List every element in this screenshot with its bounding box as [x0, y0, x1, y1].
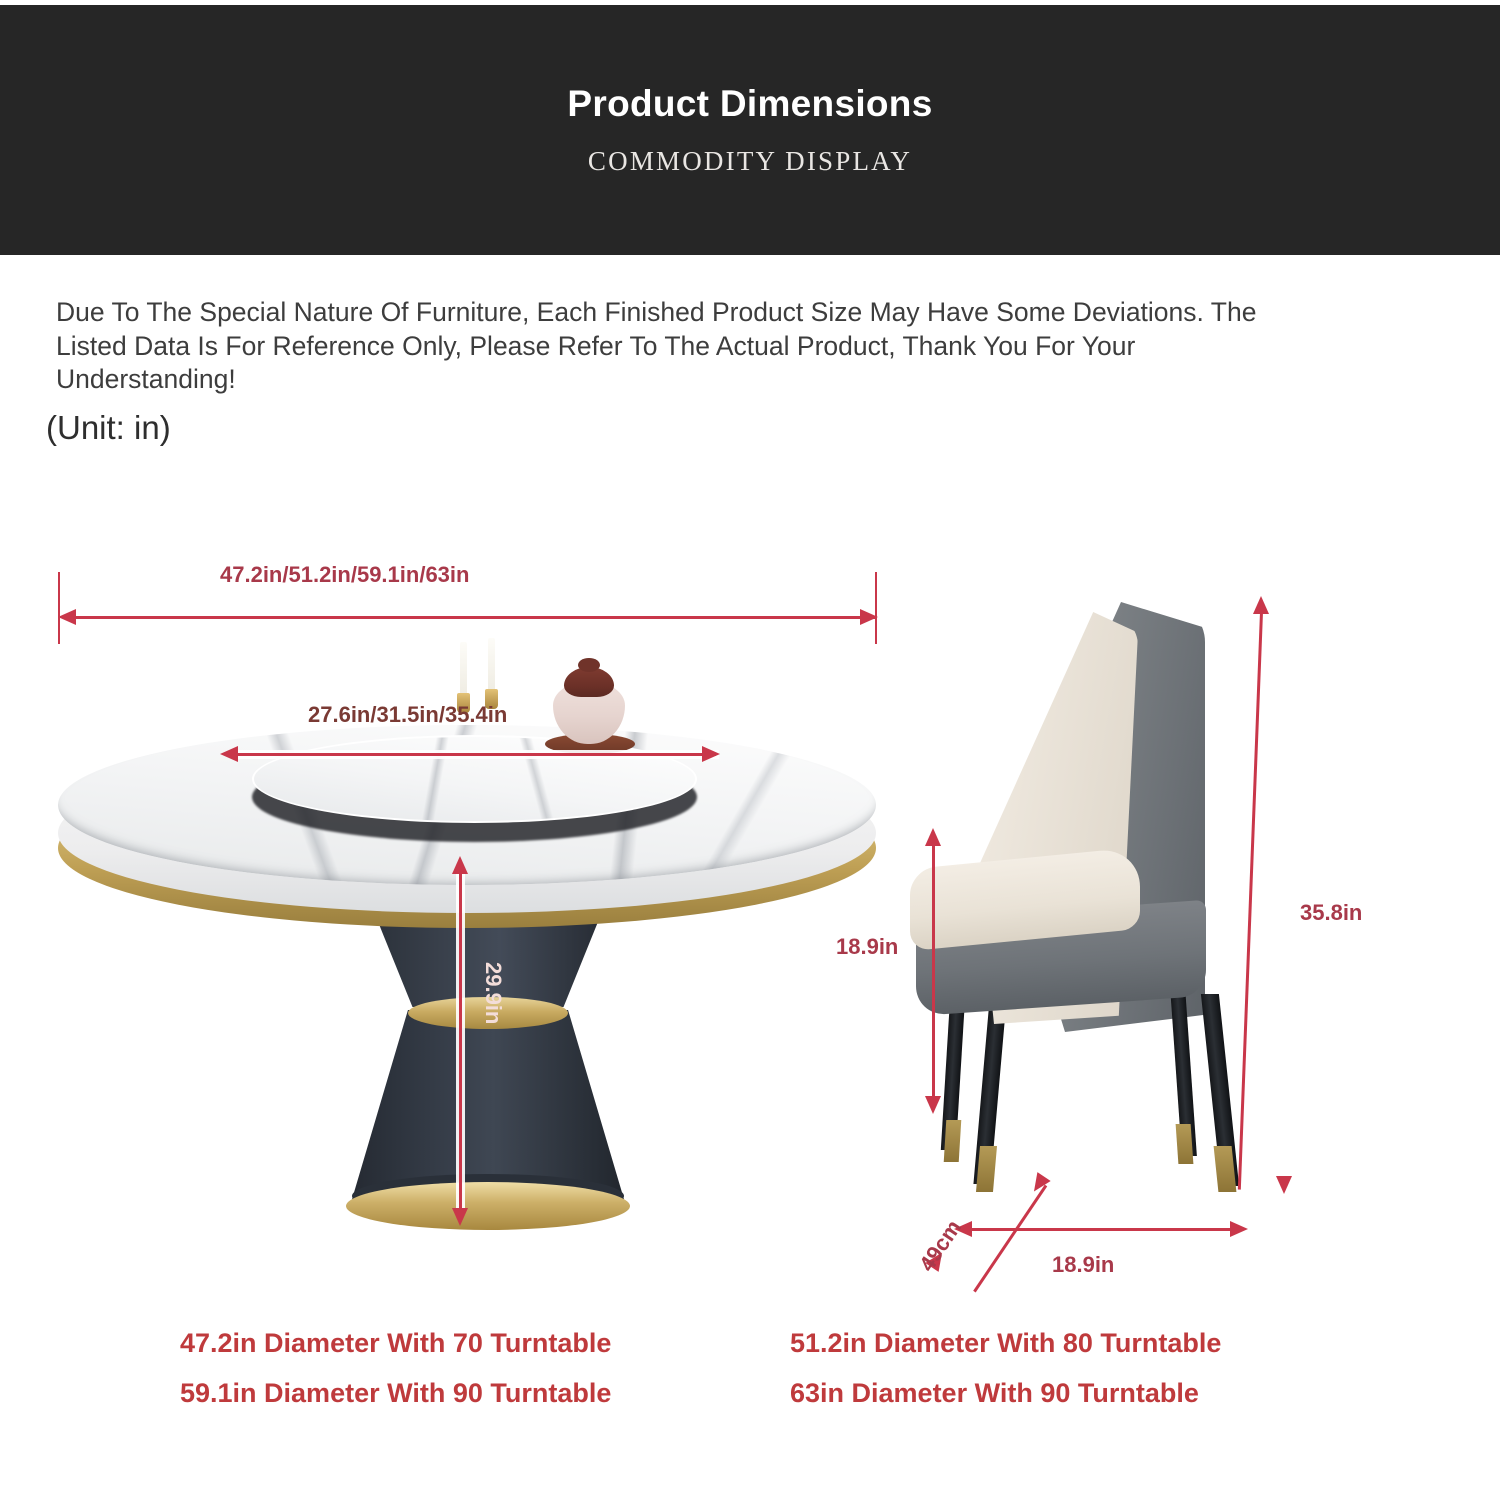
chair-width-arrow-right	[1230, 1221, 1248, 1237]
size-options-left-column: 47.2in Diameter With 70 Turntable 59.1in…	[180, 1330, 720, 1430]
table-width-arrow-right	[860, 609, 878, 625]
chair-foot-cap-front-inner	[976, 1146, 997, 1192]
turntable-width-arrow-right	[702, 746, 720, 762]
turntable-width-arrow-left	[220, 746, 238, 762]
dimension-drawing-stage: 47.2in/51.2in/59.1in/63in 27.6in/31.5in/…	[0, 470, 1500, 1290]
table-width-extension-left	[58, 572, 60, 644]
chair-total-height-dimension-line	[1238, 612, 1263, 1190]
table-height-label: 29.9in	[480, 962, 506, 1024]
pedestal-gold-base-ring	[346, 1182, 630, 1230]
page-subtitle: COMMODITY DISPLAY	[588, 148, 912, 175]
chair-total-height-arrow-bottom	[1276, 1176, 1292, 1194]
chair-seat-height-label: 18.9in	[836, 934, 898, 960]
table-width-extension-right	[875, 572, 877, 644]
table-diameter-label: 47.2in/51.2in/59.1in/63in	[220, 562, 469, 588]
table-width-arrow-left	[58, 609, 76, 625]
chair-foot-cap-front-outer	[944, 1120, 962, 1162]
chair-depth-dimension-line	[973, 1185, 1047, 1293]
chair-seat-height-dimension-line	[932, 842, 935, 1100]
size-option-item: 51.2in Diameter With 80 Turntable	[790, 1330, 1330, 1358]
candle-left	[460, 642, 467, 696]
table-height-arrow-top	[452, 856, 468, 874]
chair-depth-arrow-upper	[1027, 1172, 1050, 1196]
dining-table-illustration: 47.2in/51.2in/59.1in/63in 27.6in/31.5in/…	[40, 510, 900, 1250]
size-options-captions: 47.2in Diameter With 70 Turntable 59.1in…	[0, 1330, 1500, 1485]
table-width-dimension-line	[64, 616, 876, 619]
candle-right	[488, 638, 495, 692]
chair-depth-label: 49cm	[914, 1215, 967, 1276]
table-height-arrow-bottom	[452, 1208, 468, 1226]
size-options-right-column: 51.2in Diameter With 80 Turntable 63in D…	[790, 1330, 1330, 1430]
size-option-item: 63in Diameter With 90 Turntable	[790, 1380, 1330, 1408]
unit-label: (Unit: in)	[46, 408, 171, 448]
header-band: Product Dimensions COMMODITY DISPLAY	[0, 5, 1500, 255]
turntable-width-dimension-line	[236, 753, 716, 756]
page-title: Product Dimensions	[567, 85, 932, 122]
dining-chair-illustration: 18.9in 49cm 35.8in 18.9in	[900, 590, 1380, 1250]
chair-total-height-label: 35.8in	[1300, 900, 1362, 926]
size-option-item: 59.1in Diameter With 90 Turntable	[180, 1380, 720, 1408]
table-height-dimension-line	[459, 872, 462, 1212]
size-option-item: 47.2in Diameter With 70 Turntable	[180, 1330, 720, 1358]
decor-vase-knob	[578, 658, 600, 672]
chair-total-height-arrow-top	[1253, 596, 1269, 614]
chair-width-label: 18.9in	[1052, 1252, 1114, 1278]
turntable-diameter-label: 27.6in/31.5in/35.4in	[308, 702, 507, 728]
chair-seat-height-arrow-bottom	[925, 1096, 941, 1114]
chair-width-dimension-line	[970, 1228, 1234, 1231]
disclaimer-text: Due To The Special Nature Of Furniture, …	[56, 296, 1306, 397]
chair-seat-height-arrow-top	[925, 828, 941, 846]
chair-foot-cap-back-inner	[1176, 1124, 1194, 1164]
